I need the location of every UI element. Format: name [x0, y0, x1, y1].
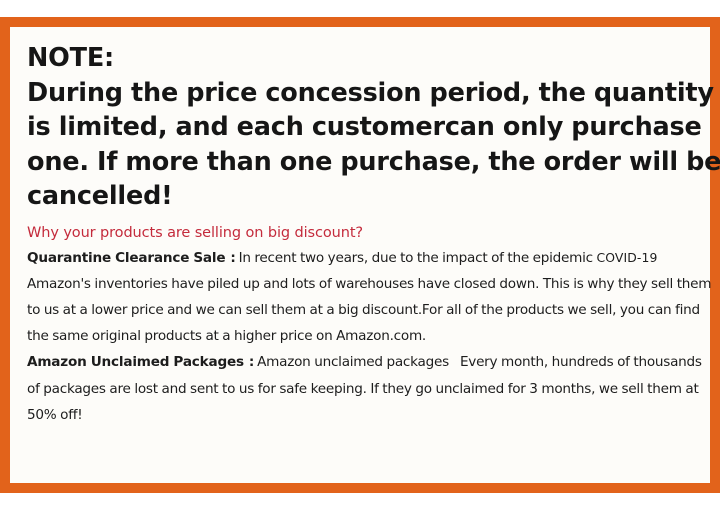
unclaimed-separator: : — [244, 354, 257, 370]
note-body-copy: Quarantine Clearance Sale:In recent two … — [27, 245, 713, 428]
headline-line-note-label: NOTE: — [27, 41, 703, 76]
quarantine-body-after: Amazon's inventories have piled up and l… — [27, 276, 711, 344]
covid-19-label: COVID-19 — [597, 250, 658, 265]
unclaimed-body-first: Amazon unclaimed packages — [257, 354, 449, 370]
note-headline-block: NOTE: During the price concession period… — [27, 41, 703, 214]
headline-line-2: is limited, and each customercan only pu… — [27, 110, 703, 145]
amazon-unclaimed-packages-label: Amazon Unclaimed Packages — [27, 354, 244, 370]
discount-question-subheading: Why your products are selling on big dis… — [27, 223, 710, 243]
note-page: NOTE: During the price concession period… — [0, 0, 720, 514]
quarantine-clearance-sale-label: Quarantine Clearance Sale — [27, 250, 225, 266]
quarantine-clearance-sale-paragraph: Quarantine Clearance Sale:In recent two … — [27, 245, 713, 350]
amazon-unclaimed-packages-paragraph: Amazon Unclaimed Packages:Amazon unclaim… — [27, 349, 713, 428]
note-frame: NOTE: During the price concession period… — [0, 17, 720, 493]
headline-line-4: cancelled! — [27, 179, 703, 214]
note-inner-panel: NOTE: During the price concession period… — [10, 27, 710, 483]
quarantine-body-before: In recent two years, due to the impact o… — [239, 250, 597, 266]
headline-line-3: one. If more than one purchase, the orde… — [27, 145, 703, 180]
headline-line-1: During the price concession period, the … — [27, 76, 703, 111]
quarantine-separator: : — [225, 250, 238, 266]
